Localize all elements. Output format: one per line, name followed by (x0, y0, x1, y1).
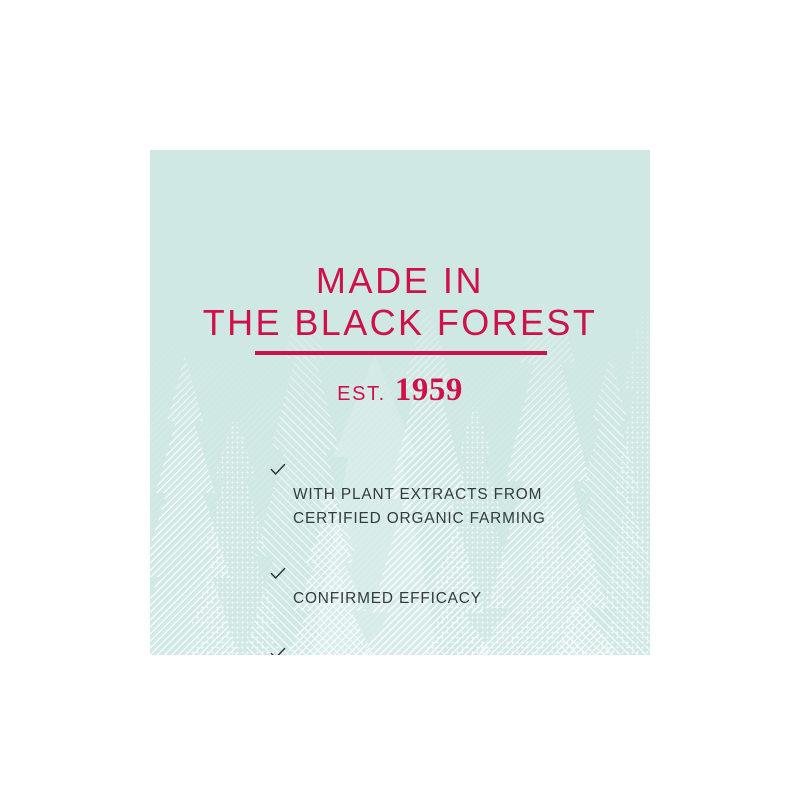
headline-line-2: THE BLACK FOREST (150, 302, 650, 344)
list-item: FREE OF ANIMAL EXTRACTS (270, 619, 600, 655)
list-item: CONFIRMED EFFICACY (270, 539, 600, 611)
established-row: EST.1959 (150, 372, 650, 409)
claims-list: WITH PLANT EXTRACTS FROM CERTIFIED ORGAN… (270, 435, 600, 655)
divider-rule (255, 351, 547, 355)
panel-content: MADE IN THE BLACK FOREST EST.1959 WITH P… (150, 150, 650, 655)
brand-claim-panel: MADE IN THE BLACK FOREST EST.1959 WITH P… (150, 150, 650, 655)
headline-line-1: MADE IN (150, 260, 650, 302)
list-item-label: CONFIRMED EFFICACY (293, 590, 482, 607)
established-year: 1959 (395, 372, 463, 408)
check-icon (270, 542, 286, 558)
check-icon (270, 622, 286, 638)
image-canvas: MADE IN THE BLACK FOREST EST.1959 WITH P… (0, 0, 800, 800)
established-label: EST. (337, 383, 386, 405)
list-item: WITH PLANT EXTRACTS FROM CERTIFIED ORGAN… (270, 435, 600, 531)
list-item-label: WITH PLANT EXTRACTS FROM CERTIFIED ORGAN… (293, 486, 546, 527)
check-icon (270, 438, 286, 454)
